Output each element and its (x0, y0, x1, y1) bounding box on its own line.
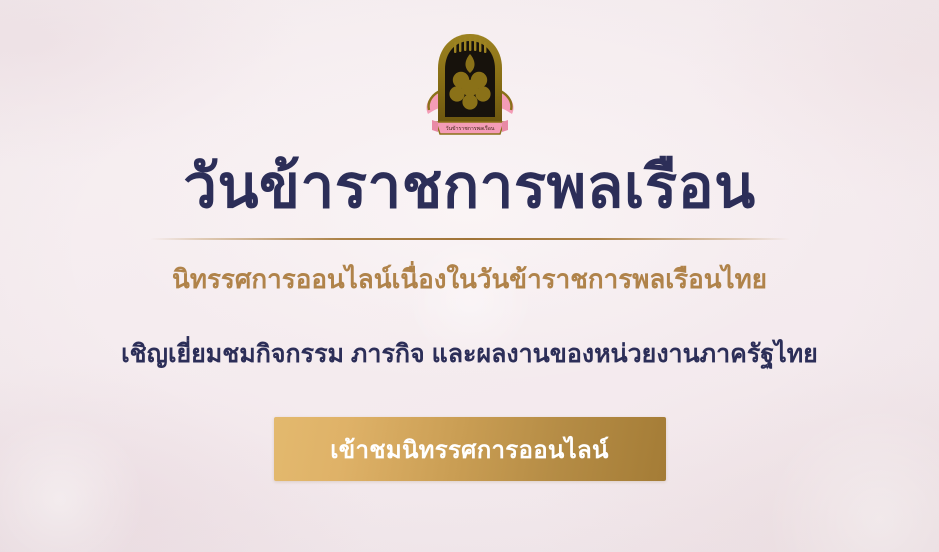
enter-online-exhibition-button[interactable]: เข้าชมนิทรรศการออนไลน์ (274, 417, 666, 481)
thai-civil-service-emblem-icon: วันข้าราชการพลเรือน (422, 30, 518, 142)
emblem-ribbon-text: วันข้าราชการพลเรือน (445, 125, 494, 132)
page-subtitle: นิทรรศการออนไลน์เนื่องในวันข้าราชการพลเร… (172, 259, 767, 300)
hero-section: วันข้าราชการพลเรือน วันข้าราชการพลเรือน … (0, 0, 939, 552)
page-tagline: เชิญเยี่ยมชมกิจกรรม ภารกิจ และผลงานของหน… (121, 334, 818, 374)
section-divider (150, 238, 790, 240)
page-title: วันข้าราชการพลเรือน (183, 156, 755, 218)
